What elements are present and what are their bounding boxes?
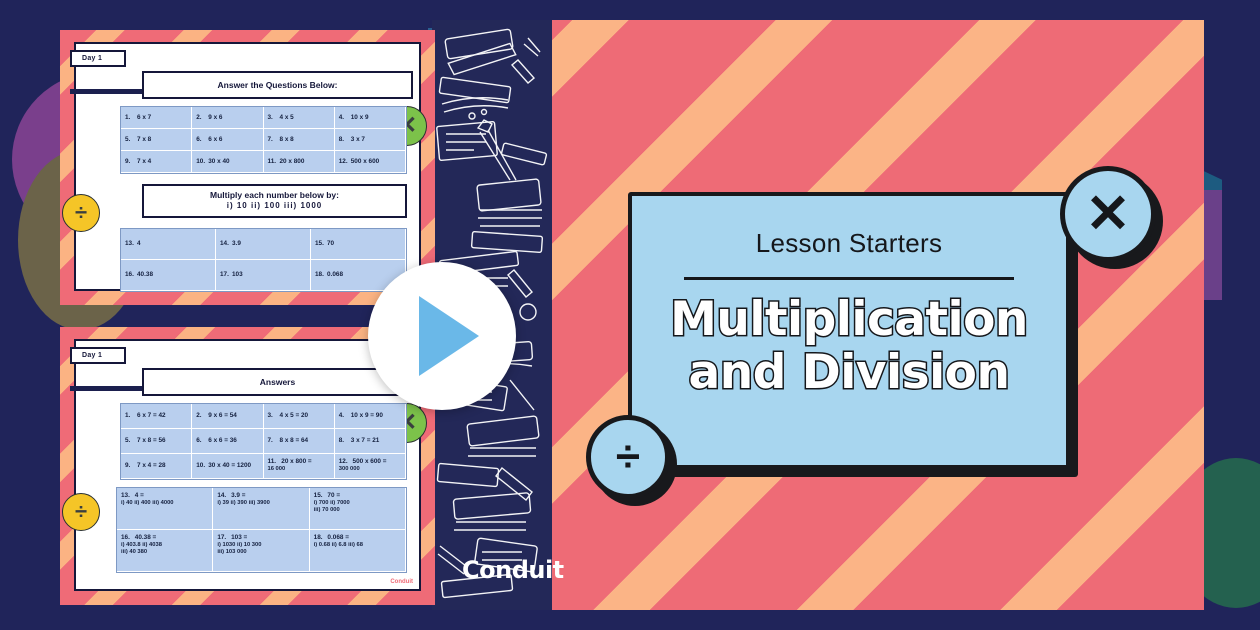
day-tab-label: Day 1 — [70, 347, 126, 364]
cell-number: 11. — [268, 158, 280, 166]
title-divider — [684, 277, 1014, 280]
day-tab-label: Day 1 — [70, 50, 126, 67]
cell-number: 14. — [220, 240, 232, 248]
cell-number: 2. — [196, 412, 208, 420]
cell-number: 1. — [125, 114, 137, 122]
table-cell: 8. 3 x 7 = 21 — [335, 429, 406, 454]
table-cell: 13. 4 =i) 40 ii) 400 iii) 4000 — [117, 488, 213, 530]
worksheet-heading: Answers — [142, 368, 413, 396]
multiply-symbol-icon: ✕ — [1060, 166, 1156, 262]
cell-text: 9 x 6 — [208, 114, 222, 122]
table-cell: 1. 6 x 7 — [121, 107, 192, 129]
cell-subtext: i) 700 ii) 7000 — [314, 500, 401, 507]
cell-text: 103 — [232, 271, 243, 279]
cell-text: 7 x 8 — [137, 136, 151, 144]
cell-subtext: i) 40 ii) 400 iii) 4000 — [121, 500, 208, 507]
table-cell: 1. 6 x 7 = 42 — [121, 404, 192, 429]
table-cell: 16. 40.38 — [121, 260, 216, 291]
brand-logo: Conduit — [462, 556, 564, 584]
table-cell: 17. 103 — [216, 260, 311, 291]
cell-subtext: 300 000 — [339, 466, 401, 473]
table-cell: 14. 3.9 — [216, 229, 311, 260]
cell-number: 2. — [196, 114, 208, 122]
cell-subtext: i) 39 ii) 390 iii) 3900 — [217, 500, 304, 507]
cell-text: 6 x 6 — [208, 136, 222, 144]
cell-text: 6 x 6 = 36 — [208, 437, 237, 445]
cell-text: 4 x 5 — [280, 114, 294, 122]
table-cell: 12. 500 x 600 — [335, 151, 406, 173]
table-cell: 15. 70 =i) 700 ii) 7000iii) 70 000 — [310, 488, 406, 530]
table-cell: 9. 7 x 4 = 28 — [121, 454, 192, 479]
answers-table: 1. 6 x 7 = 422. 9 x 6 = 543. 4 x 5 = 204… — [120, 403, 407, 480]
cell-number: 14. — [217, 492, 229, 500]
questions-table: 1. 6 x 72. 9 x 63. 4 x 54. 10 x 95. 7 x … — [120, 106, 407, 174]
cell-number: 3. — [268, 412, 280, 420]
table-cell: 11. 20 x 800 — [264, 151, 335, 173]
cell-text: 0.068 = — [326, 534, 349, 541]
cell-text: 103 = — [229, 534, 247, 541]
worksheet-page: Day 1 Answers ✕ 1. 6 x 7 = 422. 9 x 6 = … — [74, 339, 421, 591]
cell-number: 4. — [339, 114, 351, 122]
table-cell: 17. 103 =i) 1030 ii) 10 300iii) 103 000 — [213, 530, 309, 572]
cell-subtext: iii) 103 000 — [217, 549, 304, 556]
cell-text: 30 x 40 — [208, 158, 229, 166]
cell-number: 5. — [125, 437, 137, 445]
cell-number: 6. — [196, 437, 208, 445]
heading-2-line-2: i) 10 ii) 100 iii) 1000 — [148, 201, 401, 212]
table-cell: 4. 10 x 9 — [335, 107, 406, 129]
cell-text: 6 x 7 — [137, 114, 151, 122]
cell-number: 17. — [217, 534, 229, 542]
table-cell: 14. 3.9 =i) 39 ii) 390 iii) 3900 — [213, 488, 309, 530]
cell-number: 3. — [268, 114, 280, 122]
table-cell: 18. 0.068 =i) 0.68 ii) 6.8 iii) 68 — [310, 530, 406, 572]
cell-subtext: iii) 40 380 — [121, 549, 208, 556]
cell-text: 20 x 800 — [280, 158, 305, 166]
cell-text: 40.38 = — [133, 534, 156, 541]
worksheet-watermark: Conduit — [390, 579, 413, 585]
questions-table-2: 13. 414. 3.915. 7016. 40.3817. 10318. 0.… — [120, 228, 407, 292]
cell-text: 8 x 8 = 64 — [280, 437, 309, 445]
cell-subtext: iii) 70 000 — [314, 507, 401, 514]
cell-number: 9. — [125, 462, 137, 470]
cell-text: 7 x 4 — [137, 158, 151, 166]
table-cell: 7. 8 x 8 = 64 — [264, 429, 335, 454]
cell-number: 15. — [315, 240, 327, 248]
table-cell: 11. 20 x 800 =16 000 — [264, 454, 335, 479]
worksheet-questions-slide[interactable]: Day 1 Answer the Questions Below: ✕ 1. 6… — [60, 30, 435, 305]
divide-badge-icon: ÷ — [62, 194, 100, 232]
cell-subtext: i) 1030 ii) 10 300 — [217, 542, 304, 549]
slide-title-line-2: and Division — [670, 347, 1028, 400]
cell-text: 70 — [327, 240, 334, 248]
cell-number: 16. — [125, 271, 137, 279]
play-button[interactable] — [368, 262, 516, 410]
table-cell: 2. 9 x 6 — [192, 107, 263, 129]
cell-number: 18. — [315, 271, 327, 279]
cell-text: 8 x 8 — [280, 136, 294, 144]
table-cell: 6. 6 x 6 = 36 — [192, 429, 263, 454]
cell-number: 8. — [339, 136, 351, 144]
cell-number: 18. — [314, 534, 326, 542]
cell-number: 4. — [339, 412, 351, 420]
cell-number: 8. — [339, 437, 351, 445]
table-cell: 8. 3 x 7 — [335, 129, 406, 151]
table-cell: 5. 7 x 8 = 56 — [121, 429, 192, 454]
cell-number: 13. — [125, 240, 137, 248]
cell-text: 3.9 = — [229, 492, 245, 499]
cell-number: 10. — [196, 158, 208, 166]
cell-number: 17. — [220, 271, 232, 279]
title-card: Lesson Starters Multiplication and Divis… — [628, 192, 1070, 469]
slide-title: Multiplication and Division — [670, 294, 1028, 399]
cell-number: 9. — [125, 158, 137, 166]
cell-subtext: i) 403.8 ii) 4038 — [121, 542, 208, 549]
slide-title-line-1: Multiplication — [670, 294, 1028, 347]
table-cell: 10. 30 x 40 — [192, 151, 263, 173]
cell-number: 7. — [268, 136, 280, 144]
table-cell: 2. 9 x 6 = 54 — [192, 404, 263, 429]
cell-subtext: 16 000 — [268, 466, 330, 473]
answers-table-2: 13. 4 =i) 40 ii) 400 iii) 400014. 3.9 =i… — [116, 487, 407, 573]
table-cell: 7. 8 x 8 — [264, 129, 335, 151]
slideshow-preview: Day 1 Answer the Questions Below: ✕ 1. 6… — [0, 0, 1260, 630]
slide-eyebrow: Lesson Starters — [756, 228, 943, 259]
table-cell: 4. 10 x 9 = 90 — [335, 404, 406, 429]
cell-text: 3 x 7 — [351, 136, 365, 144]
cell-text: 10 x 9 — [351, 114, 369, 122]
cell-number: 16. — [121, 534, 133, 542]
cell-number: 5. — [125, 136, 137, 144]
cell-text: 500 x 600 = — [351, 458, 387, 465]
cell-number: 12. — [339, 458, 351, 466]
cell-number: 6. — [196, 136, 208, 144]
cell-text: 3 x 7 = 21 — [351, 437, 380, 445]
worksheet-page: Day 1 Answer the Questions Below: ✕ 1. 6… — [74, 42, 421, 291]
title-slide[interactable]: ✕ Lesson Starters Multiplication and Div… — [552, 20, 1204, 610]
worksheet-heading: Answer the Questions Below: — [142, 71, 413, 99]
table-cell: 12. 500 x 600 =300 000 — [335, 454, 406, 479]
cell-text: 0.068 — [327, 271, 343, 279]
cell-subtext: i) 0.68 ii) 6.8 iii) 68 — [314, 542, 401, 549]
table-cell: 6. 6 x 6 — [192, 129, 263, 151]
worksheet-heading-2: Multiply each number below by: i) 10 ii)… — [142, 184, 407, 218]
table-cell: 3. 4 x 5 — [264, 107, 335, 129]
divide-badge-icon: ÷ — [62, 493, 100, 531]
table-cell: 16. 40.38 =i) 403.8 ii) 4038iii) 40 380 — [117, 530, 213, 572]
cell-text: 7 x 4 = 28 — [137, 462, 166, 470]
divide-symbol-icon: ÷ — [586, 415, 670, 499]
table-cell: 10. 30 x 40 = 1200 — [192, 454, 263, 479]
cell-text: 70 = — [326, 492, 340, 499]
cell-number: 1. — [125, 412, 137, 420]
cell-number: 12. — [339, 158, 351, 166]
table-cell: 15. 70 — [311, 229, 406, 260]
play-triangle-icon — [419, 296, 479, 376]
cell-text: 20 x 800 = — [280, 458, 312, 465]
table-cell: 13. 4 — [121, 229, 216, 260]
cell-text: 4 = — [133, 492, 144, 499]
cell-number: 11. — [268, 458, 280, 466]
cell-text: 40.38 — [137, 271, 153, 279]
cell-number: 10. — [196, 462, 208, 470]
cell-text: 4 — [137, 240, 141, 248]
cell-text: 4 x 5 = 20 — [280, 412, 309, 420]
cell-text: 6 x 7 = 42 — [137, 412, 166, 420]
cell-text: 30 x 40 = 1200 — [208, 462, 251, 470]
table-cell: 5. 7 x 8 — [121, 129, 192, 151]
cell-text: 10 x 9 = 90 — [351, 412, 383, 420]
cell-number: 7. — [268, 437, 280, 445]
cell-number: 15. — [314, 492, 326, 500]
cell-text: 500 x 600 — [351, 158, 379, 166]
heading-2-line-1: Multiply each number below by: — [148, 190, 401, 201]
cell-text: 3.9 — [232, 240, 241, 248]
cell-text: 7 x 8 = 56 — [137, 437, 166, 445]
cell-number: 13. — [121, 492, 133, 500]
cell-text: 9 x 6 = 54 — [208, 412, 237, 420]
table-cell: 9. 7 x 4 — [121, 151, 192, 173]
table-cell: 3. 4 x 5 = 20 — [264, 404, 335, 429]
